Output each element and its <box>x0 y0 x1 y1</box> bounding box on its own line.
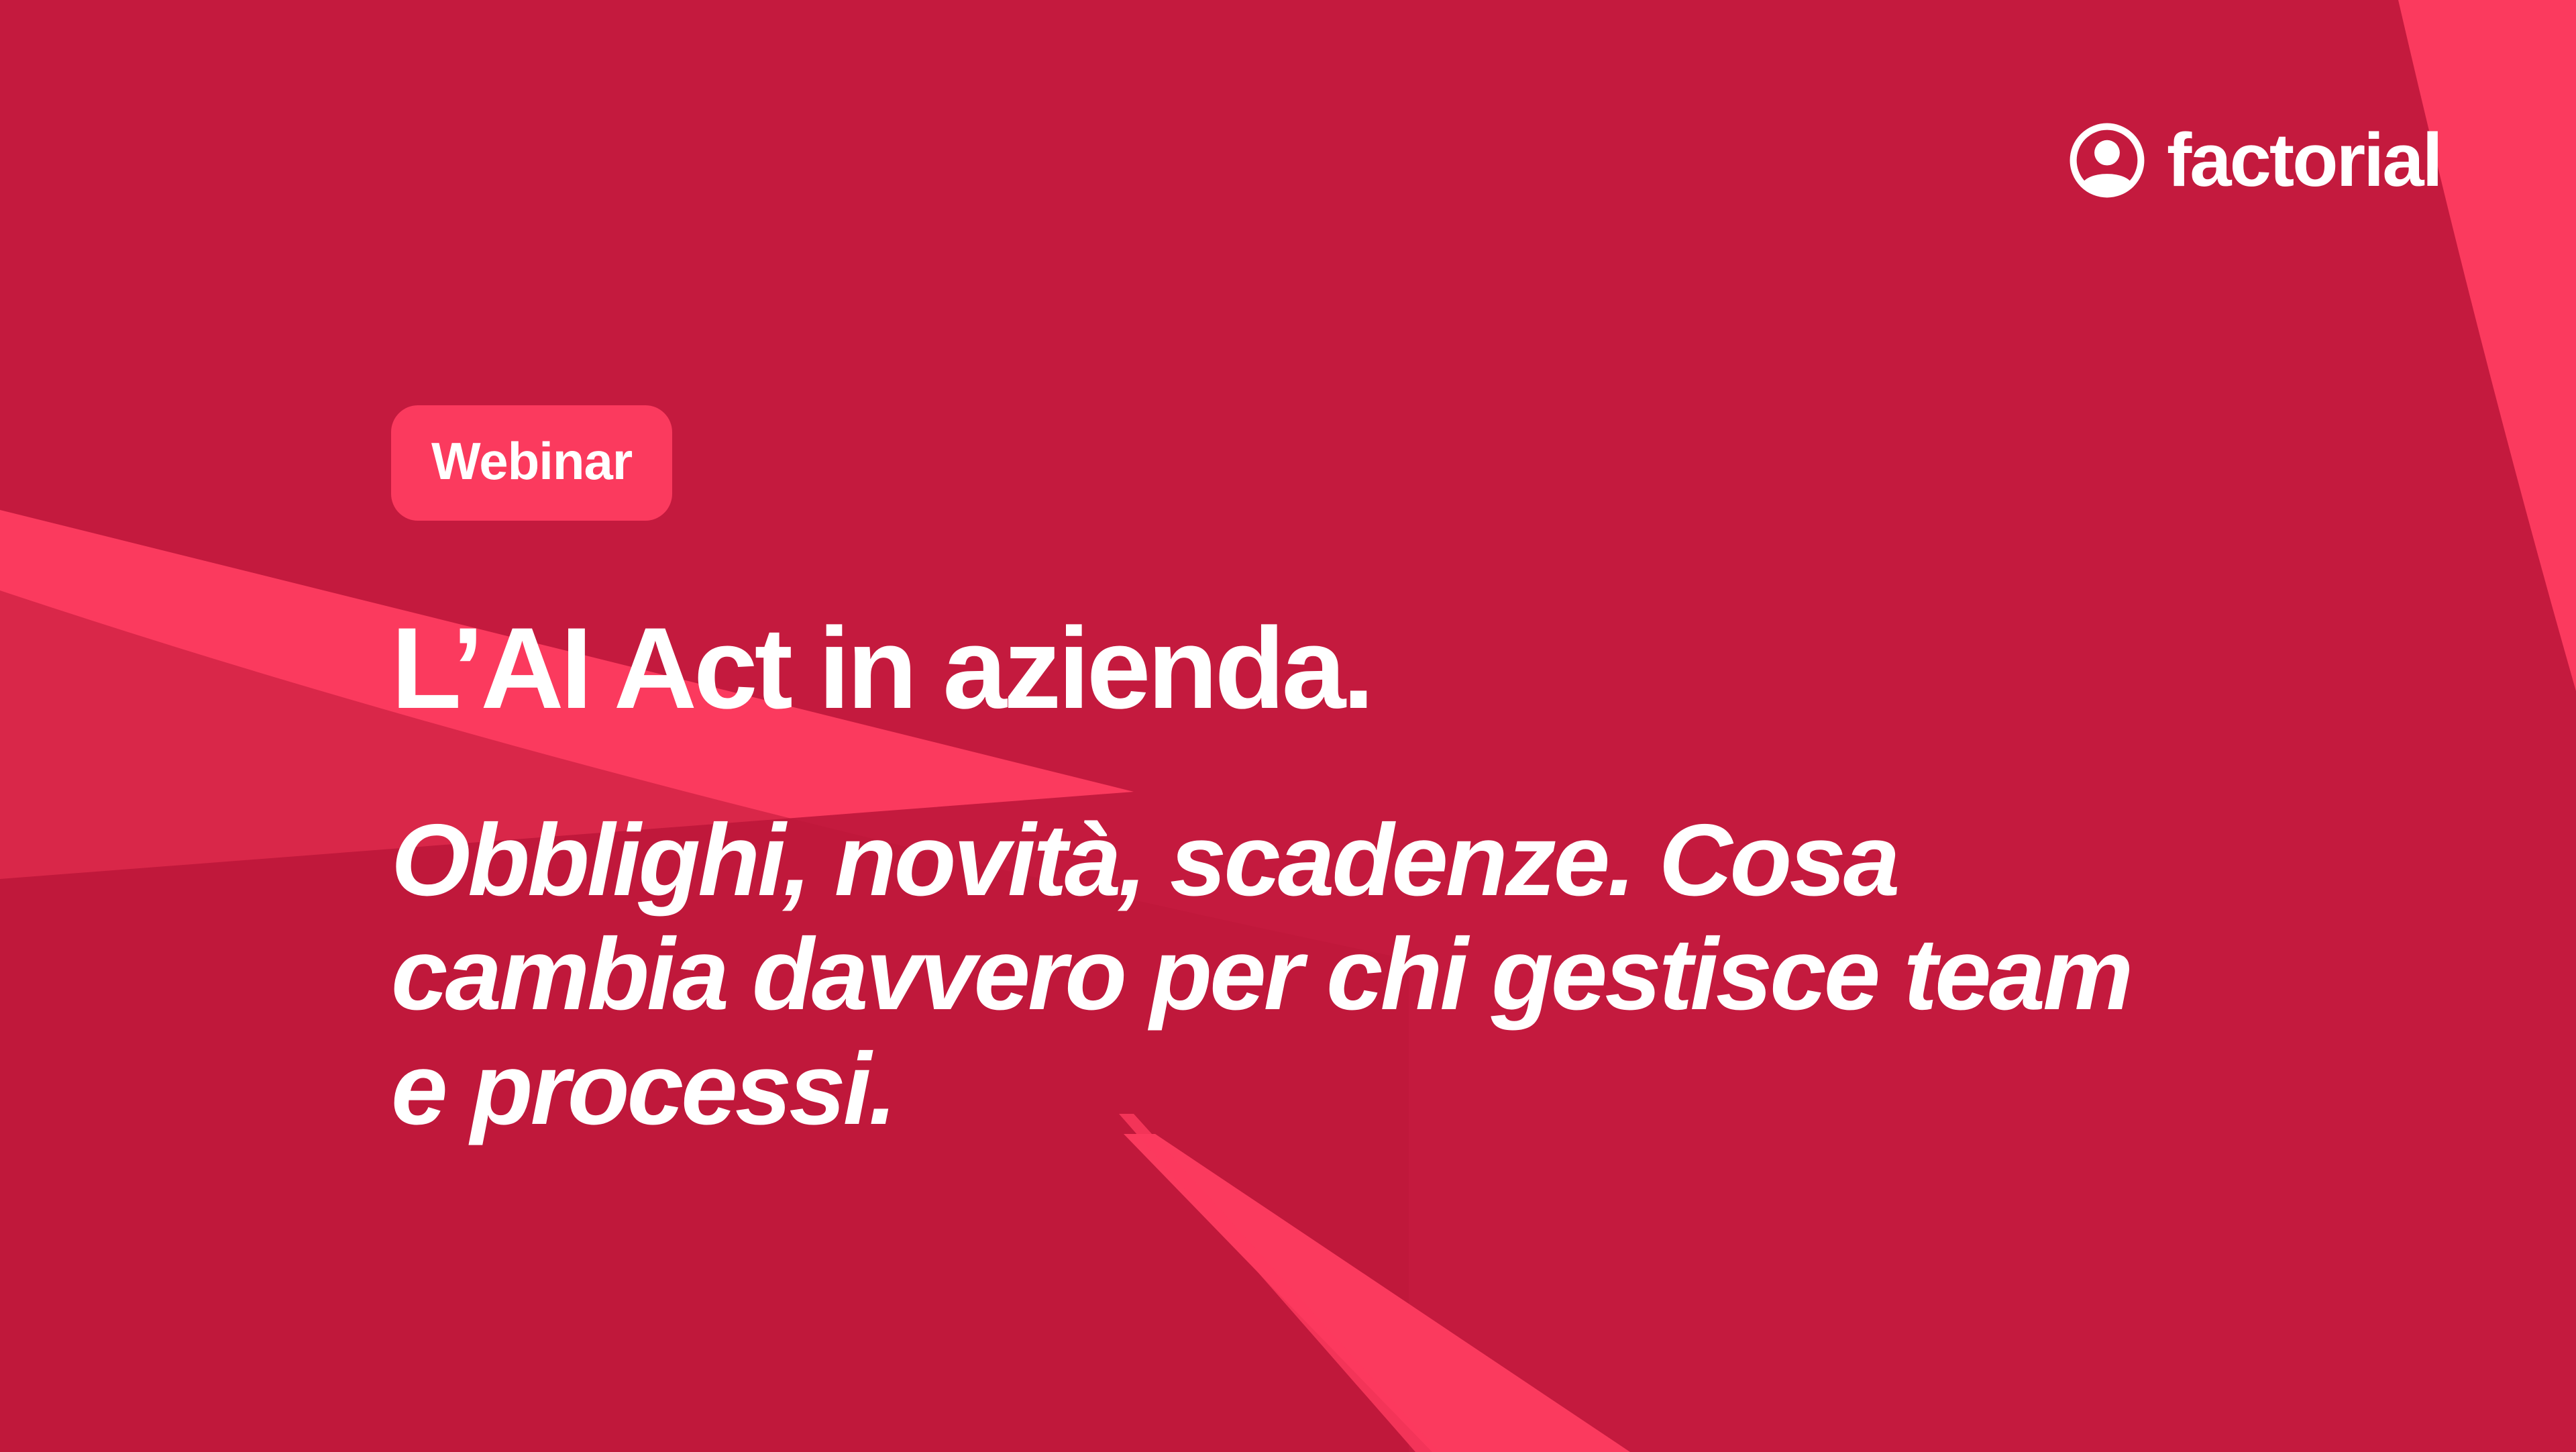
user-circle-icon <box>2065 118 2149 203</box>
brand-name: factorial <box>2167 123 2441 198</box>
page-subtitle: Obblighi, novità, scadenze. Cosa cambia … <box>391 803 2457 1146</box>
category-badge[interactable]: Webinar <box>391 405 672 521</box>
subtitle-line-3: e processi. <box>391 1032 2457 1146</box>
webinar-promo-banner: factorial Webinar L’AI Act in azienda. O… <box>0 0 2576 1452</box>
subtitle-line-2: cambia davvero per chi gestisce team <box>391 917 2457 1031</box>
content-block: Webinar L’AI Act in azienda. Obblighi, n… <box>391 405 2471 1146</box>
brand-logo[interactable]: factorial <box>2065 118 2441 203</box>
page-title: L’AI Act in azienda. <box>391 611 2471 726</box>
subtitle-line-1: Obblighi, novità, scadenze. Cosa <box>391 803 2457 917</box>
